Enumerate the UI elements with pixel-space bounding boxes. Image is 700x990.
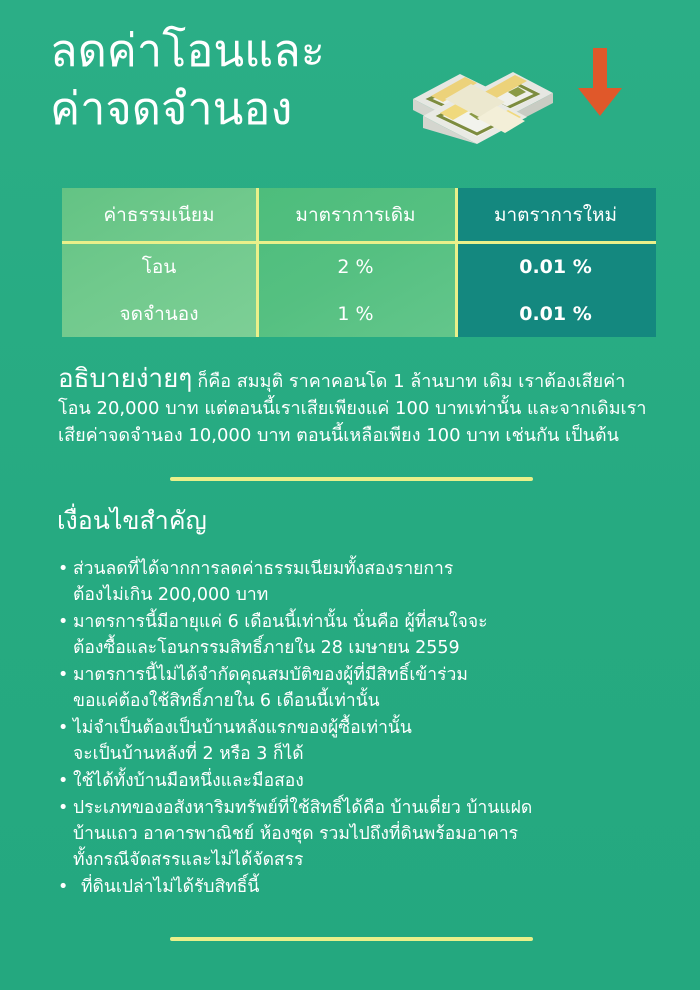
list-item-text: มาตรการนี้ไม่ได้จำกัดคุณสมบัติของผู้ที่ม… <box>73 665 468 711</box>
list-item: •ใช้ได้ทั้งบ้านมือหนึ่งและมือสอง <box>57 768 657 794</box>
list-item-text: ใช้ได้ทั้งบ้านมือหนึ่งและมือสอง <box>73 771 304 791</box>
list-item: •ไม่จำเป็นต้องเป็นบ้านหลังแรกของผู้ซื้อเ… <box>57 715 657 767</box>
table-cell-old-rate-mortgage: 1 % <box>256 290 455 337</box>
explanation-paragraph: อธิบายง่ายๆก็คือ สมมุติ ราคาคอนโด 1 ล้าน… <box>58 366 658 449</box>
explanation-lead: อธิบายง่ายๆ <box>58 364 192 394</box>
bullet-marker: • <box>58 874 68 900</box>
table-column-divider <box>455 188 458 337</box>
table-cell-new-rate-mortgage: 0.01 % <box>455 290 656 337</box>
table-cell-fee-transfer: โอน <box>62 244 256 290</box>
bullet-marker: • <box>58 556 68 582</box>
table-header-old-rate: มาตราการเดิม <box>256 188 455 241</box>
list-item: •ประเภทของอสังหาริมทรัพย์ที่ใช้สิทธิ์ได้… <box>57 795 657 873</box>
list-item-text: ประเภทของอสังหาริมทรัพย์ที่ใช้สิทธิ์ได้ค… <box>73 798 532 870</box>
section-divider-bottom <box>170 937 533 941</box>
conditions-heading: เงื่อนไขสำคัญ <box>57 505 207 537</box>
table-cell-old-rate-transfer: 2 % <box>256 244 455 290</box>
bullet-marker: • <box>58 768 68 794</box>
list-item: •ที่ดินเปล่าไม่ได้รับสิทธิ์นี้ <box>57 874 657 900</box>
list-item-text: ส่วนลดที่ได้จากการลดค่าธรรมเนียมทั้งสองร… <box>73 559 453 605</box>
conditions-list: •ส่วนลดที่ได้จากการลดค่าธรรมเนียมทั้งสอง… <box>57 556 657 901</box>
table-header-fee: ค่าธรรมเนียม <box>62 188 256 241</box>
bullet-marker: • <box>58 795 68 821</box>
list-item-text: ไม่จำเป็นต้องเป็นบ้านหลังแรกของผู้ซื้อเท… <box>73 718 412 764</box>
bullet-marker: • <box>58 609 68 635</box>
table-column-fee: ค่าธรรมเนียม โอน จดจำนอง <box>62 188 256 337</box>
table-cell-new-rate-transfer: 0.01 % <box>455 244 656 290</box>
list-item-text: ที่ดินเปล่าไม่ได้รับสิทธิ์นี้ <box>81 877 259 897</box>
bullet-marker: • <box>58 662 68 688</box>
list-item: •มาตรการนี้ไม่ได้จำกัดคุณสมบัติของผู้ที่… <box>57 662 657 714</box>
list-item: •มาตรการนี้มีอายุแค่ 6 เดือนนี้เท่านั้น … <box>57 609 657 661</box>
list-item: •ส่วนลดที่ได้จากการลดค่าธรรมเนียมทั้งสอง… <box>57 556 657 608</box>
money-stack-icon <box>405 44 555 144</box>
section-divider-top <box>170 477 533 481</box>
table-column-new-rate: มาตราการใหม่ 0.01 % 0.01 % <box>455 188 656 337</box>
fee-table: ค่าธรรมเนียม โอน จดจำนอง มาตราการเดิม 2 … <box>62 188 656 337</box>
infographic-page: ลดค่าโอนและ ค่าจดจำนอง <box>0 0 700 990</box>
bullet-marker: • <box>58 715 68 741</box>
table-header-new-rate: มาตราการใหม่ <box>455 188 656 241</box>
header-section: ลดค่าโอนและ ค่าจดจำนอง <box>0 0 700 168</box>
page-title: ลดค่าโอนและ ค่าจดจำนอง <box>50 22 410 138</box>
list-item-text: มาตรการนี้มีอายุแค่ 6 เดือนนี้เท่านั้น น… <box>73 612 488 658</box>
down-arrow-icon <box>570 44 630 124</box>
table-cell-fee-mortgage: จดจำนอง <box>62 290 256 337</box>
table-column-divider <box>256 188 259 337</box>
table-column-old-rate: มาตราการเดิม 2 % 1 % <box>256 188 455 337</box>
